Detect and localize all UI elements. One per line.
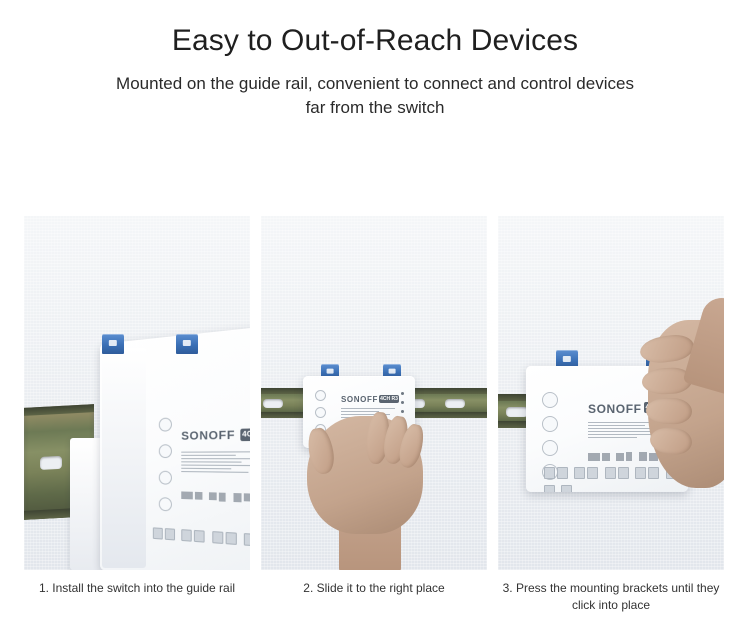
mounting-bracket[interactable] [176, 334, 198, 354]
device-clip-bracket [70, 438, 104, 570]
mounting-bracket[interactable] [102, 334, 124, 354]
din-rail-slot [40, 456, 62, 470]
step-caption-3: 3. Press the mounting brackets until the… [498, 580, 724, 615]
page-title: Easy to Out-of-Reach Devices [0, 22, 750, 60]
device-button-column[interactable] [159, 418, 172, 512]
device-brand-logo: SONOFF [341, 395, 378, 404]
page-subtitle: Mounted on the guide rail, convenient to… [110, 72, 640, 121]
step-photo-1: SONOFF 4CH R3 [24, 216, 250, 570]
din-rail-slot [263, 399, 283, 408]
din-rail-slot [506, 407, 528, 417]
step-caption-2: 2. Slide it to the right place [261, 580, 487, 615]
step-caption-1: 1. Install the switch into the guide rai… [24, 580, 250, 615]
caption-row: 1. Install the switch into the guide rai… [24, 580, 726, 615]
device-brand-logo: SONOFF [181, 429, 235, 443]
din-rail-slot [445, 399, 465, 408]
device-spec-text [181, 451, 250, 475]
device-brand-logo: SONOFF [588, 402, 642, 416]
header: Easy to Out-of-Reach Devices Mounted on … [0, 0, 750, 121]
instruction-photo-gallery: SONOFF 4CH R3 [24, 216, 726, 570]
device-terminal-block [153, 525, 250, 553]
device-side-face [102, 348, 146, 568]
device-model-badge: 4CH R3 [379, 395, 399, 403]
device-certification-marks [181, 486, 250, 509]
device-certification-marks [588, 448, 660, 466]
step-photo-3: SONOFF 4CH R3 [498, 216, 724, 570]
device-model-badge: 4CH R3 [240, 428, 250, 441]
step-photo-2: SONOFF 4CH R3 [261, 216, 487, 570]
